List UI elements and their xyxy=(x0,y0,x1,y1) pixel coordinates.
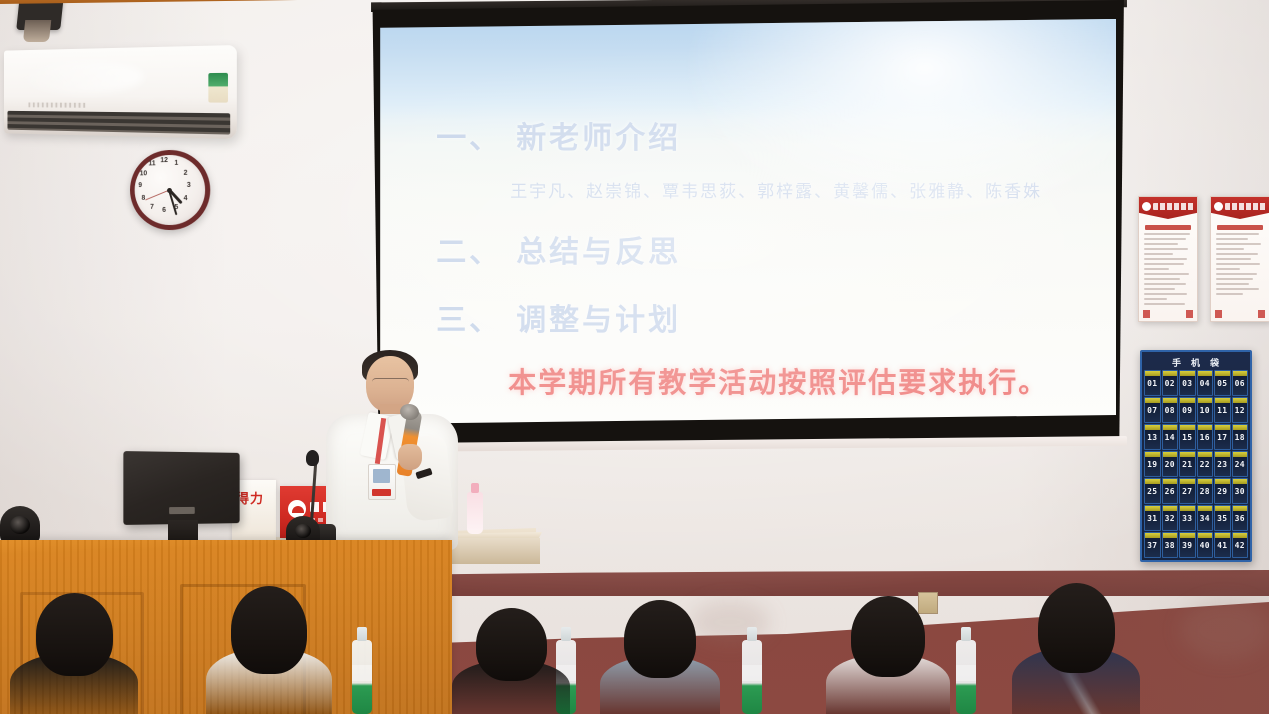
ac-grille xyxy=(28,102,85,107)
podium-standee-text: 得力 xyxy=(236,488,264,507)
phone-pocket-number: 30 xyxy=(1233,487,1248,496)
phone-pocket-number: 31 xyxy=(1145,514,1160,523)
phone-pocket-number: 23 xyxy=(1215,460,1230,469)
air-conditioner xyxy=(4,45,237,139)
phone-pocket-number: 16 xyxy=(1198,433,1213,442)
phone-pocket[interactable]: 38 xyxy=(1162,532,1179,558)
phone-pocket[interactable]: 14 xyxy=(1162,424,1179,450)
phone-pocket[interactable]: 21 xyxy=(1179,451,1196,477)
projected-slide: 一、新老师介绍 王宇凡、赵崇锦、覃韦思荻、郭梓露、黄馨儒、张雅静、陈香姝 二、总… xyxy=(380,19,1116,424)
phone-pocket-number: 02 xyxy=(1163,379,1178,388)
audience-2 xyxy=(206,588,332,714)
audience-3 xyxy=(452,610,570,714)
monitor-stand xyxy=(168,520,198,542)
phone-pocket-number: 37 xyxy=(1145,541,1160,550)
audience-head xyxy=(1038,583,1115,673)
phone-pocket[interactable]: 28 xyxy=(1197,478,1214,504)
audience-6 xyxy=(1012,586,1140,714)
phone-pocket-number: 39 xyxy=(1180,541,1195,550)
phone-pocket[interactable]: 08 xyxy=(1162,397,1179,423)
gooseneck-microphone-head xyxy=(306,450,319,466)
audience-head xyxy=(851,596,925,677)
phone-pocket-number: 38 xyxy=(1163,541,1178,550)
school-logo-icon xyxy=(1214,202,1223,211)
phone-pocket[interactable]: 39 xyxy=(1179,532,1196,558)
phone-pocket[interactable]: 02 xyxy=(1162,370,1179,396)
school-logo-icon xyxy=(1142,202,1151,211)
phone-pocket[interactable]: 05 xyxy=(1214,370,1231,396)
audience-4 xyxy=(600,602,720,714)
phone-pocket[interactable]: 34 xyxy=(1197,505,1214,531)
audience-head xyxy=(476,608,547,681)
slide-heading-1: 一、新老师介绍 xyxy=(436,113,681,157)
slide-heading-2-number: 二、 xyxy=(436,235,502,270)
audience-head xyxy=(231,586,307,674)
poster-footer xyxy=(1143,310,1193,318)
phone-pocket[interactable]: 06 xyxy=(1232,370,1249,396)
phone-pocket-number: 01 xyxy=(1145,379,1160,388)
phone-pocket[interactable]: 18 xyxy=(1232,424,1249,450)
water-bottle-3 xyxy=(742,640,762,714)
poster-footer xyxy=(1215,310,1265,318)
clock-center-pin xyxy=(167,187,172,192)
phone-pocket[interactable]: 15 xyxy=(1179,424,1196,450)
phone-pocket-number: 10 xyxy=(1198,406,1213,415)
wall-poster-left xyxy=(1138,196,1198,322)
phone-pocket-number: 03 xyxy=(1180,379,1195,388)
presenter-hand xyxy=(398,444,422,470)
slide-content: 一、新老师介绍 王宇凡、赵崇锦、覃韦思荻、郭梓露、黄馨儒、张雅静、陈香姝 二、总… xyxy=(380,19,1116,424)
eyeglasses-icon xyxy=(372,378,409,388)
phone-pocket-number: 28 xyxy=(1198,487,1213,496)
clock-numeral: 12 xyxy=(159,157,169,164)
phone-pocket-number: 27 xyxy=(1180,487,1195,496)
phone-pocket-number: 13 xyxy=(1145,433,1160,442)
phone-pocket[interactable]: 12 xyxy=(1232,397,1249,423)
phone-pocket[interactable]: 42 xyxy=(1232,532,1249,558)
audience-5 xyxy=(826,598,950,714)
slide-heading-2-text: 总结与反思 xyxy=(516,235,681,270)
phone-pocket[interactable]: 10 xyxy=(1197,397,1214,423)
clock-numeral: 10 xyxy=(139,170,148,177)
phone-pocket[interactable]: 17 xyxy=(1214,424,1231,450)
presenter-id-badge xyxy=(368,464,396,500)
phone-pocket[interactable]: 22 xyxy=(1197,451,1214,477)
phone-pocket-number: 42 xyxy=(1233,541,1248,550)
phone-pocket-number: 09 xyxy=(1180,406,1195,415)
phone-pocket-header-char-3: 袋 xyxy=(1210,356,1220,369)
energy-label-icon xyxy=(208,73,228,103)
phone-pocket[interactable]: 03 xyxy=(1179,370,1196,396)
phone-pocket[interactable]: 01 xyxy=(1144,370,1161,396)
desk-water-bottle xyxy=(467,492,483,534)
phone-pocket-grid: 0102030405060708091011121314151617181920… xyxy=(1144,370,1248,558)
phone-pocket-header-char-1: 手 xyxy=(1172,356,1182,369)
phone-pocket-row: 131415161718 xyxy=(1144,424,1248,450)
phone-pocket-row: 010203040506 xyxy=(1144,370,1248,396)
phone-pocket[interactable]: 19 xyxy=(1144,451,1161,477)
phone-pocket[interactable]: 27 xyxy=(1179,478,1196,504)
phone-pocket[interactable]: 26 xyxy=(1162,478,1179,504)
phone-pocket[interactable]: 23 xyxy=(1214,451,1231,477)
phone-pocket[interactable]: 25 xyxy=(1144,478,1161,504)
phone-pocket[interactable]: 37 xyxy=(1144,532,1161,558)
phone-pocket[interactable]: 36 xyxy=(1232,505,1249,531)
clock-numeral: 7 xyxy=(147,203,157,210)
phone-pocket-number: 32 xyxy=(1163,514,1178,523)
phone-pocket-number: 33 xyxy=(1180,514,1195,523)
ptz-camera-left xyxy=(0,506,40,544)
slide-emphasis-text: 本学期所有教学活动按照评估要求执行。 xyxy=(508,361,1048,401)
phone-pocket-row: 373839404142 xyxy=(1144,532,1248,558)
phone-pocket[interactable]: 07 xyxy=(1144,397,1161,423)
phone-pocket-number: 06 xyxy=(1233,379,1248,388)
classroom-photo: 121234567891011 一、新老师介绍 王宇凡、赵崇锦、覃韦思荻、郭梓露… xyxy=(0,0,1269,714)
phone-pocket-number: 20 xyxy=(1163,460,1178,469)
phone-pocket-number: 26 xyxy=(1163,487,1178,496)
poster-body-text xyxy=(1144,233,1192,305)
slide-teacher-names: 王宇凡、赵崇锦、覃韦思荻、郭梓露、黄馨儒、张雅静、陈香姝 xyxy=(510,177,1042,202)
phone-pocket-number: 14 xyxy=(1163,433,1178,442)
poster-header xyxy=(1211,197,1269,219)
phone-pocket[interactable]: 13 xyxy=(1144,424,1161,450)
phone-pocket-organizer: 手 机 袋 0102030405060708091011121314151617… xyxy=(1140,350,1252,562)
ac-vent xyxy=(7,111,230,135)
phone-pocket[interactable]: 33 xyxy=(1179,505,1196,531)
phone-pocket-number: 29 xyxy=(1215,487,1230,496)
phone-pocket-number: 17 xyxy=(1215,433,1230,442)
projection-screen: 一、新老师介绍 王宇凡、赵崇锦、覃韦思荻、郭梓露、黄馨儒、张雅静、陈香姝 二、总… xyxy=(368,0,1130,450)
phone-pocket[interactable]: 16 xyxy=(1197,424,1214,450)
phone-pocket-number: 40 xyxy=(1198,541,1213,550)
phone-pocket-header-char-2: 机 xyxy=(1191,356,1201,369)
phone-pocket-number: 18 xyxy=(1233,433,1248,442)
phone-pocket-number: 15 xyxy=(1180,433,1195,442)
audience-head xyxy=(36,593,113,676)
clock-numeral: 11 xyxy=(147,161,157,168)
poster-title-bar xyxy=(1217,225,1263,230)
phone-pocket-number: 07 xyxy=(1145,406,1160,415)
presenter xyxy=(320,352,464,548)
ceiling-speaker xyxy=(16,0,64,30)
phone-pocket-number: 35 xyxy=(1215,514,1230,523)
phone-pocket[interactable]: 32 xyxy=(1162,505,1179,531)
clock-numeral: 9 xyxy=(136,182,145,189)
phone-pocket[interactable]: 11 xyxy=(1214,397,1231,423)
poster-header-text xyxy=(1225,203,1266,210)
phone-pocket[interactable]: 20 xyxy=(1162,451,1179,477)
phone-pocket-number: 19 xyxy=(1145,460,1160,469)
clock-numeral: 2 xyxy=(180,169,190,176)
phone-pocket[interactable]: 31 xyxy=(1144,505,1161,531)
phone-pocket-number: 34 xyxy=(1198,514,1213,523)
phone-pocket-number: 11 xyxy=(1215,406,1230,415)
slide-heading-1-number: 一、 xyxy=(436,121,502,156)
phone-pocket-row: 192021222324 xyxy=(1144,451,1248,477)
phone-pocket[interactable]: 35 xyxy=(1214,505,1231,531)
phone-pocket[interactable]: 04 xyxy=(1197,370,1214,396)
slide-heading-1-text: 新老师介绍 xyxy=(516,121,681,156)
phone-pocket-number: 21 xyxy=(1180,460,1195,469)
phone-pocket-number: 36 xyxy=(1233,514,1248,523)
audience-head xyxy=(624,600,696,678)
phone-pocket-row: 070809101112 xyxy=(1144,397,1248,423)
audience-1 xyxy=(10,596,138,714)
water-bottle-4 xyxy=(956,640,976,714)
slide-heading-2: 二、总结与反思 xyxy=(436,227,681,271)
poster-header-text xyxy=(1153,203,1194,210)
phone-pocket[interactable]: 09 xyxy=(1179,397,1196,423)
phone-pocket[interactable]: 40 xyxy=(1197,532,1214,558)
slide-heading-3-text: 调整与计划 xyxy=(516,303,681,338)
phone-pocket-number: 05 xyxy=(1215,379,1230,388)
phone-pocket-header: 手 机 袋 xyxy=(1144,354,1248,370)
phone-pocket-number: 04 xyxy=(1198,379,1213,388)
phone-pocket-number: 22 xyxy=(1198,460,1213,469)
clock-numeral: 1 xyxy=(171,160,181,167)
phone-pocket[interactable]: 30 xyxy=(1232,478,1249,504)
poster-header xyxy=(1139,197,1197,219)
ac-highlight xyxy=(21,60,144,94)
wall-poster-right xyxy=(1210,196,1269,322)
clock-second-hand xyxy=(145,190,169,201)
slide-heading-3: 三、调整与计划 xyxy=(436,295,681,339)
clock-numeral: 3 xyxy=(184,182,194,189)
phone-pocket-number: 24 xyxy=(1233,460,1248,469)
poster-title-bar xyxy=(1145,225,1191,230)
clock-numeral: 6 xyxy=(159,207,169,214)
phone-pocket-row: 252627282930 xyxy=(1144,478,1248,504)
phone-pocket-number: 12 xyxy=(1233,406,1248,415)
phone-pocket-number: 25 xyxy=(1145,487,1160,496)
slide-heading-3-number: 三、 xyxy=(436,303,502,338)
phone-pocket-number: 41 xyxy=(1215,541,1230,550)
phone-pocket-number: 08 xyxy=(1163,406,1178,415)
podium-monitor xyxy=(123,451,239,525)
phone-pocket-row: 313233343536 xyxy=(1144,505,1248,531)
phone-pocket[interactable]: 24 xyxy=(1232,451,1249,477)
phone-pocket[interactable]: 29 xyxy=(1214,478,1231,504)
poster-body-text xyxy=(1216,233,1264,295)
monitor-badge xyxy=(169,507,195,514)
water-bottle-1 xyxy=(352,640,372,714)
phone-pocket[interactable]: 41 xyxy=(1214,532,1231,558)
